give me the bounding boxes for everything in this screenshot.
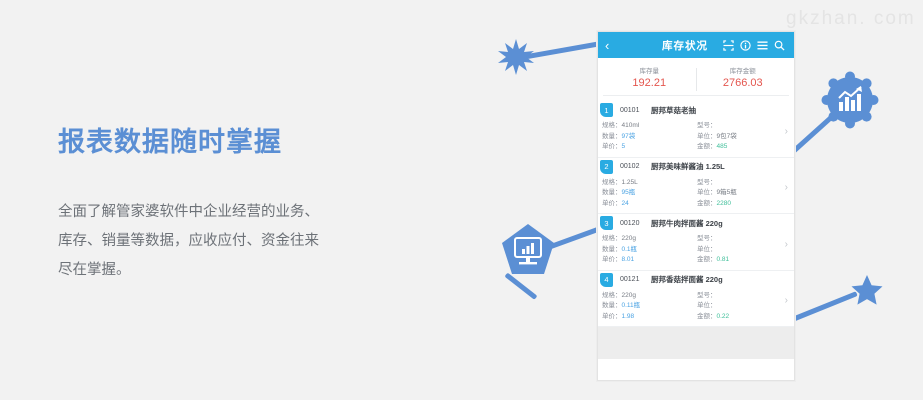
list-item[interactable]: 3 00120 厨邦牛肉拌面酱 220g 规格：220g 数量：0.1瓶 单价：… (598, 214, 794, 271)
promo-paragraph: 全面了解管家婆软件中企业经营的业务、 库存、销量等数据，应收应付、资金往来 尽在… (58, 198, 378, 285)
field-value: 1.98 (622, 313, 635, 320)
info-icon[interactable] (740, 40, 751, 51)
item-code: 00121 (620, 276, 651, 283)
field-value: 5 (622, 143, 626, 150)
watermark: gkzhan. com (786, 8, 916, 30)
field-value: 2280 (717, 200, 731, 207)
field-amount: 金额：0.81 (697, 255, 792, 266)
list-item-fields: 规格：220g 数量：0.1瓶 单价：8.01 型号： 单位： 金额：0.81 (598, 232, 794, 266)
summary-stock-quantity: 库存量 192.21 (603, 68, 696, 91)
chevron-right-icon[interactable]: › (785, 240, 788, 250)
field-value: 410ml (622, 122, 640, 129)
field-label: 规格： (602, 179, 622, 186)
field-value: 9箱5瓶 (717, 189, 737, 196)
field-value: 485 (717, 143, 728, 150)
field-label: 数量： (602, 302, 622, 309)
list-item-header: 2 00102 厨邦美味鲜酱油 1.25L (598, 158, 794, 176)
list-empty-area (598, 327, 794, 359)
field-unit: 单位： (697, 245, 792, 256)
field-value: 220g (622, 292, 636, 299)
field-label: 单位： (697, 246, 717, 253)
chevron-right-icon[interactable]: › (785, 183, 788, 193)
field-value: 1.25L (622, 179, 638, 186)
field-price: 单价：8.01 (602, 255, 697, 266)
field-spec: 规格：1.25L (602, 178, 697, 189)
chart-badge-icon (820, 70, 880, 130)
list-item-fields: 规格：410ml 数量：97袋 单价：5 型号： 单位：9包7袋 金额：485 (598, 119, 794, 153)
summary-label: 库存金额 (697, 68, 790, 76)
chevron-right-icon[interactable]: › (785, 127, 788, 137)
item-code: 00102 (620, 163, 651, 170)
field-label: 数量： (602, 133, 622, 140)
field-label: 型号： (697, 235, 717, 242)
field-value: 0.22 (717, 313, 730, 320)
field-label: 单位： (697, 133, 717, 140)
field-spec: 规格：220g (602, 234, 697, 245)
promo-paragraph-line: 尽在掌握。 (58, 256, 378, 285)
field-quantity: 数量：97袋 (602, 132, 697, 143)
field-label: 单位： (697, 302, 717, 309)
field-model: 型号： (697, 121, 792, 132)
field-quantity: 数量：0.1瓶 (602, 245, 697, 256)
field-price: 单价：24 (602, 199, 697, 210)
list-item-header: 1 00101 厨邦草菇老抽 (598, 101, 794, 119)
field-value: 0.11瓶 (622, 302, 641, 309)
stock-summary-panel: 库存量 192.21 库存金额 2766.03 (603, 64, 789, 96)
item-code: 00101 (620, 107, 651, 114)
field-column-left: 规格：220g 数量：0.11瓶 单价：1.98 (602, 291, 697, 323)
field-model: 型号： (697, 178, 792, 189)
field-quantity: 数量：95瓶 (602, 188, 697, 199)
field-label: 规格： (602, 235, 622, 242)
field-unit: 单位：9包7袋 (697, 132, 792, 143)
field-amount: 金额：0.22 (697, 312, 792, 323)
item-name: 厨邦牛肉拌面酱 220g (651, 218, 723, 229)
field-model: 型号： (697, 234, 792, 245)
sequence-badge: 2 (600, 160, 613, 174)
field-unit: 单位：9箱5瓶 (697, 188, 792, 199)
field-label: 规格： (602, 122, 622, 129)
starburst-icon (497, 38, 535, 76)
list-item[interactable]: 4 00121 厨邦香菇拌面酱 220g 规格：220g 数量：0.11瓶 单价… (598, 271, 794, 328)
field-label: 单价： (602, 143, 622, 150)
field-quantity: 数量：0.11瓶 (602, 301, 697, 312)
list-item[interactable]: 1 00101 厨邦草菇老抽 规格：410ml 数量：97袋 单价：5 型号： … (598, 101, 794, 158)
field-label: 单价： (602, 200, 622, 207)
field-amount: 金额：485 (697, 142, 792, 153)
back-button[interactable]: ‹ (605, 39, 621, 52)
field-spec: 规格：410ml (602, 121, 697, 132)
field-column-left: 规格：220g 数量：0.1瓶 单价：8.01 (602, 234, 697, 266)
field-value: 95瓶 (622, 189, 636, 196)
list-item[interactable]: 2 00102 厨邦美味鲜酱油 1.25L 规格：1.25L 数量：95瓶 单价… (598, 158, 794, 215)
field-value: 97袋 (622, 133, 636, 140)
item-code: 00120 (620, 220, 651, 227)
field-label: 单位： (697, 189, 717, 196)
field-label: 数量： (602, 246, 622, 253)
promo-banner: gkzhan. com 报表数据随时掌握 全面了解管家婆软件中企业经营的业务、 … (0, 0, 923, 400)
list-item-fields: 规格：220g 数量：0.11瓶 单价：1.98 型号： 单位： 金额：0.22 (598, 289, 794, 323)
field-value: 9包7袋 (717, 133, 737, 140)
field-column-right: 型号： 单位：9包7袋 金额：485 (697, 121, 792, 153)
field-label: 单价： (602, 256, 622, 263)
field-label: 金额： (697, 256, 717, 263)
field-label: 数量： (602, 189, 622, 196)
item-name: 厨邦香菇拌面酱 220g (651, 274, 723, 285)
field-label: 金额： (697, 143, 717, 150)
star-icon (850, 273, 884, 307)
field-column-right: 型号： 单位： 金额：0.22 (697, 291, 792, 323)
field-value: 8.01 (622, 256, 635, 263)
field-price: 单价：1.98 (602, 312, 697, 323)
monitor-badge-icon (500, 222, 556, 278)
summary-label: 库存量 (603, 68, 696, 76)
summary-stock-amount: 库存金额 2766.03 (696, 68, 790, 91)
field-column-left: 规格：1.25L 数量：95瓶 单价：24 (602, 178, 697, 210)
field-label: 型号： (697, 122, 717, 129)
field-price: 单价：5 (602, 142, 697, 153)
search-icon[interactable] (774, 40, 785, 51)
sequence-badge: 1 (600, 103, 613, 117)
inventory-list: 1 00101 厨邦草菇老抽 规格：410ml 数量：97袋 单价：5 型号： … (598, 101, 794, 359)
page-title: 报表数据随时掌握 (58, 120, 282, 159)
app-title: 库存状况 (621, 38, 723, 53)
promo-paragraph-line: 库存、销量等数据，应收应付、资金往来 (58, 227, 378, 256)
field-amount: 金额：2280 (697, 199, 792, 210)
field-value: 220g (622, 235, 636, 242)
field-model: 型号： (697, 291, 792, 302)
field-label: 规格： (602, 292, 622, 299)
app-navbar: ‹ 库存状况 (598, 32, 794, 58)
field-label: 金额： (697, 200, 717, 207)
promo-paragraph-line: 全面了解管家婆软件中企业经营的业务、 (58, 198, 378, 227)
field-label: 型号： (697, 179, 717, 186)
field-value: 0.81 (717, 256, 730, 263)
field-column-left: 规格：410ml 数量：97袋 单价：5 (602, 121, 697, 153)
list-icon[interactable] (757, 40, 768, 51)
field-column-right: 型号： 单位：9箱5瓶 金额：2280 (697, 178, 792, 210)
field-label: 型号： (697, 292, 717, 299)
summary-value: 192.21 (603, 77, 696, 91)
list-item-fields: 规格：1.25L 数量：95瓶 单价：24 型号： 单位：9箱5瓶 金额：228… (598, 176, 794, 210)
phone-screen: ‹ 库存状况 (598, 32, 794, 380)
navbar-actions (723, 40, 787, 51)
field-spec: 规格：220g (602, 291, 697, 302)
field-value: 24 (622, 200, 629, 207)
chevron-right-icon[interactable]: › (785, 296, 788, 306)
item-name: 厨邦草菇老抽 (651, 105, 696, 116)
sequence-badge: 3 (600, 216, 613, 230)
scan-icon[interactable] (723, 40, 734, 51)
list-item-header: 4 00121 厨邦香菇拌面酱 220g (598, 271, 794, 289)
connector-line-bottom-right (789, 291, 858, 323)
list-item-header: 3 00120 厨邦牛肉拌面酱 220g (598, 214, 794, 232)
field-label: 单价： (602, 313, 622, 320)
field-label: 金额： (697, 313, 717, 320)
summary-value: 2766.03 (697, 77, 790, 91)
sequence-badge: 4 (600, 273, 613, 287)
field-value: 0.1瓶 (622, 246, 638, 253)
item-name: 厨邦美味鲜酱油 1.25L (651, 161, 725, 172)
field-unit: 单位： (697, 301, 792, 312)
field-column-right: 型号： 单位： 金额：0.81 (697, 234, 792, 266)
